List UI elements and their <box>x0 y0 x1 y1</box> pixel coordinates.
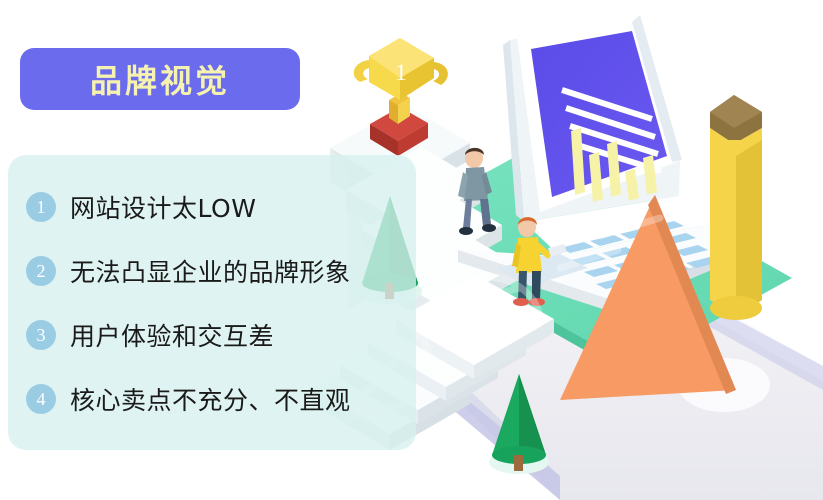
list-item[interactable]: 3 用户体验和交互差 <box>26 303 508 367</box>
list-item[interactable]: 4 核心卖点不充分、不直观 <box>26 367 508 431</box>
title-badge: 品牌视觉 <box>20 48 300 110</box>
list-item[interactable]: 2 无法凸显企业的品牌形象 <box>26 239 508 303</box>
trophy-number: 1 <box>395 60 407 85</box>
pencil <box>710 95 762 320</box>
list-item-badge: 3 <box>26 320 56 350</box>
list-item-label: 核心卖点不充分、不直观 <box>70 381 351 417</box>
list-item[interactable]: 1 网站设计太LOW <box>26 175 508 239</box>
list-item-badge: 4 <box>26 384 56 414</box>
page-title: 品牌视觉 <box>90 56 230 102</box>
poster-canvas: 1 <box>0 0 823 500</box>
list-item-label: 网站设计太LOW <box>70 189 256 225</box>
list-item-badge: 2 <box>26 256 56 286</box>
list-item-label: 无法凸显企业的品牌形象 <box>70 253 351 289</box>
bullet-list: 1 网站设计太LOW 2 无法凸显企业的品牌形象 3 用户体验和交互差 4 核心… <box>8 155 508 450</box>
list-item-label: 用户体验和交互差 <box>70 317 274 353</box>
list-item-badge: 1 <box>26 192 56 222</box>
